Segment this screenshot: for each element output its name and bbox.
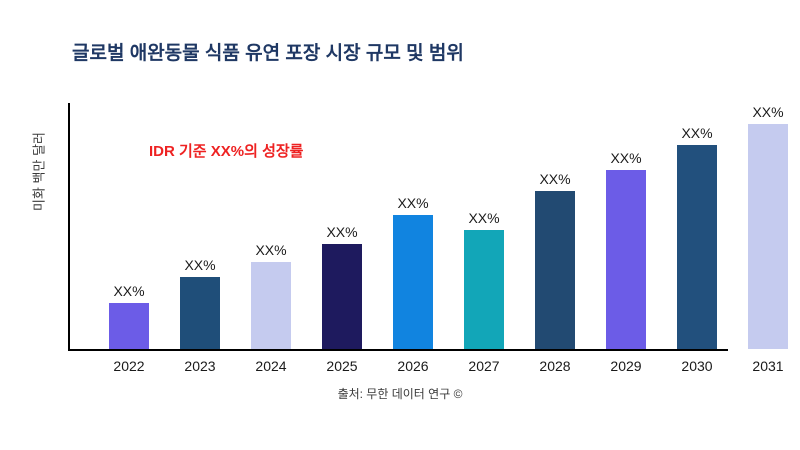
x-tick-2025: 2025 [312,358,372,374]
x-tick-2030: 2030 [667,358,727,374]
bar-2028[interactable] [535,191,575,349]
bar-2023[interactable] [180,277,220,349]
bar-value-label-2026: XX% [397,195,428,211]
plot-area: IDR 기준 XX%의 성장률 XX%XX%XX%XX%XX%XX%XX%XX%… [68,103,780,350]
growth-rate-annotation: IDR 기준 XX%의 성장률 [149,140,303,161]
bar-2024[interactable] [251,262,291,349]
bar-value-label-2025: XX% [326,224,357,240]
bar-2027[interactable] [464,230,504,349]
x-tick-2026: 2026 [383,358,443,374]
x-tick-2024: 2024 [241,358,301,374]
x-tick-2031: 2031 [738,358,798,374]
bar-value-label-2024: XX% [255,242,286,258]
x-tick-2029: 2029 [596,358,656,374]
bar-2025[interactable] [322,244,362,349]
bar-value-label-2031: XX% [752,104,783,120]
bar-value-label-2030: XX% [681,125,712,141]
bar-value-label-2022: XX% [113,283,144,299]
bar-2031[interactable] [748,124,788,349]
bar-2030[interactable] [677,145,717,349]
x-axis-line [68,349,728,351]
x-tick-2027: 2027 [454,358,514,374]
bar-value-label-2029: XX% [610,150,641,166]
bar-value-label-2027: XX% [468,210,499,226]
bar-value-label-2028: XX% [539,171,570,187]
x-tick-2028: 2028 [525,358,585,374]
x-tick-2023: 2023 [170,358,230,374]
chart-title: 글로벌 애완동물 식품 유연 포장 시장 규모 및 범위 [72,38,464,65]
y-axis-label: 미화 백만 달러 [29,112,48,232]
bar-2026[interactable] [393,215,433,349]
bar-2022[interactable] [109,303,149,349]
x-tick-2022: 2022 [99,358,159,374]
source-note: 출처: 무한 데이터 연구 © [0,385,800,402]
bar-2029[interactable] [606,170,646,349]
bar-value-label-2023: XX% [184,257,215,273]
y-axis-line [68,103,70,350]
bar-chart: 글로벌 애완동물 식품 유연 포장 시장 규모 및 범위 미화 백만 달러 ID… [0,0,800,450]
